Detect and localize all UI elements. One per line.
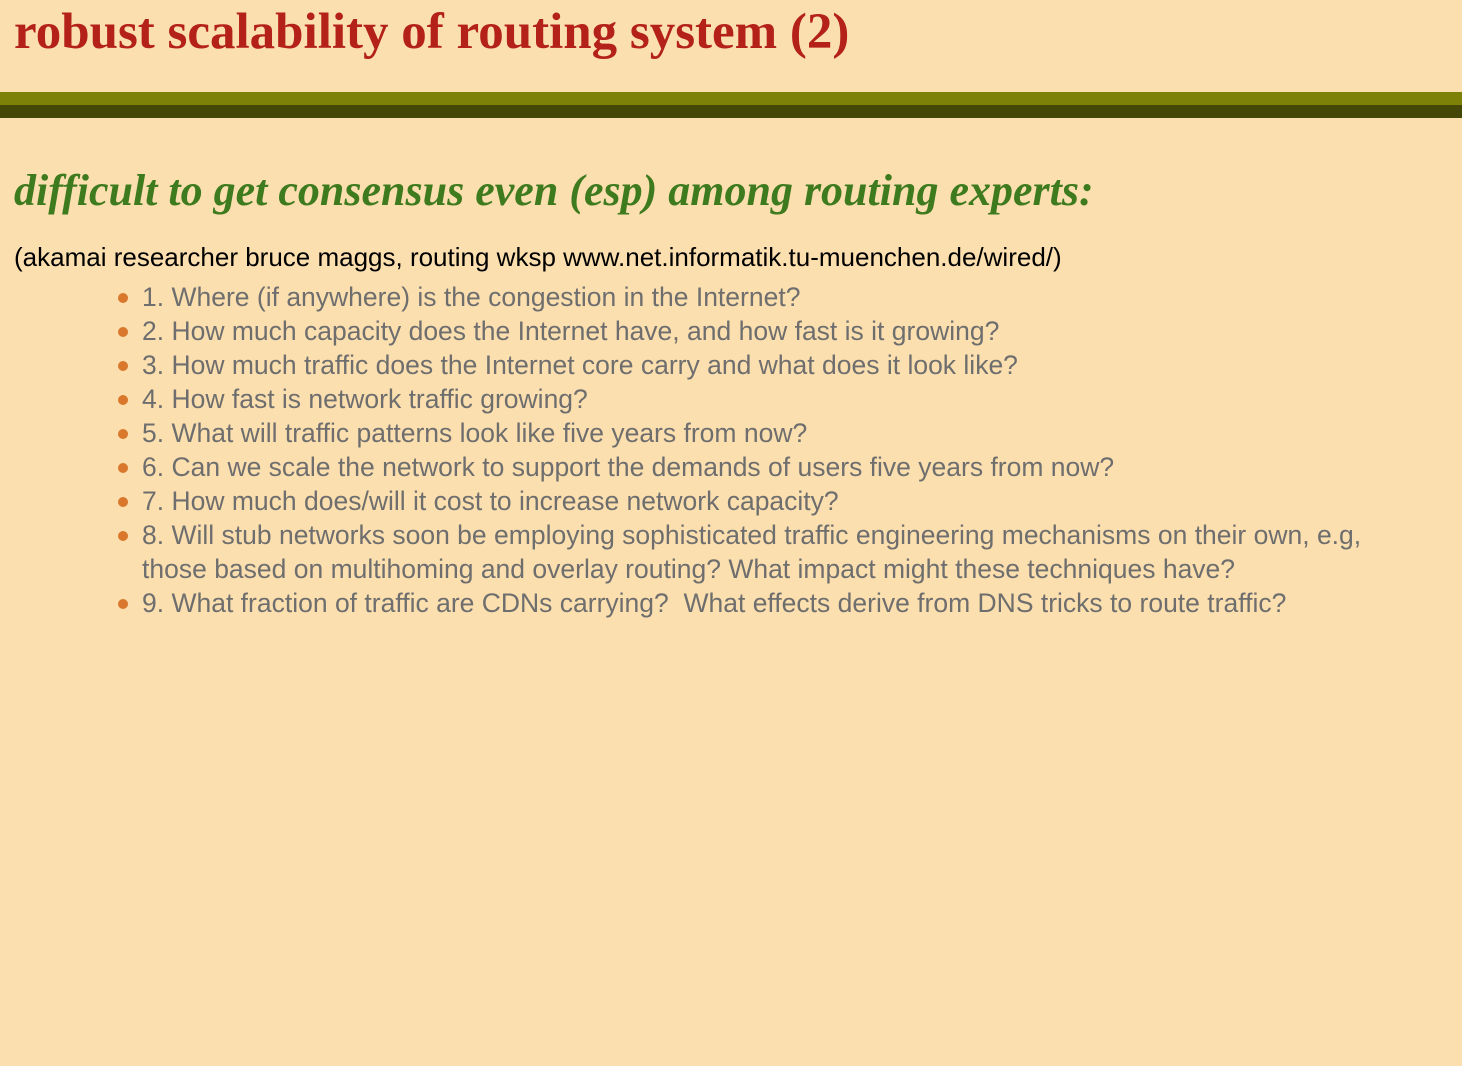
list-item: 8. Will stub networks soon be employing … xyxy=(114,518,1404,586)
list-item-label: 2. How much capacity does the Internet h… xyxy=(142,314,1404,348)
slide-canvas: robust scalability of routing system (2)… xyxy=(0,0,1462,1066)
bullet-dot-icon xyxy=(118,361,128,371)
bullet-dot-icon xyxy=(118,463,128,473)
list-item-label: 3. How much traffic does the Internet co… xyxy=(142,348,1404,382)
list-item-label: 1. Where (if anywhere) is the congestion… xyxy=(142,280,1404,314)
list-item: 2. How much capacity does the Internet h… xyxy=(114,314,1404,348)
list-item-label: 6. Can we scale the network to support t… xyxy=(142,450,1404,484)
question-list: 1. Where (if anywhere) is the congestion… xyxy=(114,280,1404,620)
title-divider xyxy=(0,92,1462,118)
divider-band-dark xyxy=(0,105,1462,118)
bullet-dot-icon xyxy=(118,395,128,405)
list-item: 9. What fraction of traffic are CDNs car… xyxy=(114,586,1404,620)
list-item-label: 7. How much does/will it cost to increas… xyxy=(142,484,1404,518)
list-item-label: 8. Will stub networks soon be employing … xyxy=(142,518,1404,586)
list-item: 1. Where (if anywhere) is the congestion… xyxy=(114,280,1404,314)
divider-band-light xyxy=(0,92,1462,105)
list-item-label: 4. How fast is network traffic growing? xyxy=(142,382,1404,416)
slide-subtitle: difficult to get consensus even (esp) am… xyxy=(14,165,1094,217)
list-item: 7. How much does/will it cost to increas… xyxy=(114,484,1404,518)
bullet-dot-icon xyxy=(118,429,128,439)
bullet-dot-icon xyxy=(118,293,128,303)
list-item: 6. Can we scale the network to support t… xyxy=(114,450,1404,484)
bullet-dot-icon xyxy=(118,531,128,541)
attribution-line: (akamai researcher bruce maggs, routing … xyxy=(14,241,1062,273)
bullet-dot-icon xyxy=(118,497,128,507)
bullet-dot-icon xyxy=(118,599,128,609)
list-item: 3. How much traffic does the Internet co… xyxy=(114,348,1404,382)
list-item: 4. How fast is network traffic growing? xyxy=(114,382,1404,416)
bullet-dot-icon xyxy=(118,327,128,337)
list-item-label: 9. What fraction of traffic are CDNs car… xyxy=(142,586,1404,620)
page-title: robust scalability of routing system (2) xyxy=(14,2,849,62)
slide-title-region: robust scalability of routing system (2) xyxy=(0,0,1462,92)
list-item-label: 5. What will traffic patterns look like … xyxy=(142,416,1404,450)
list-item: 5. What will traffic patterns look like … xyxy=(114,416,1404,450)
